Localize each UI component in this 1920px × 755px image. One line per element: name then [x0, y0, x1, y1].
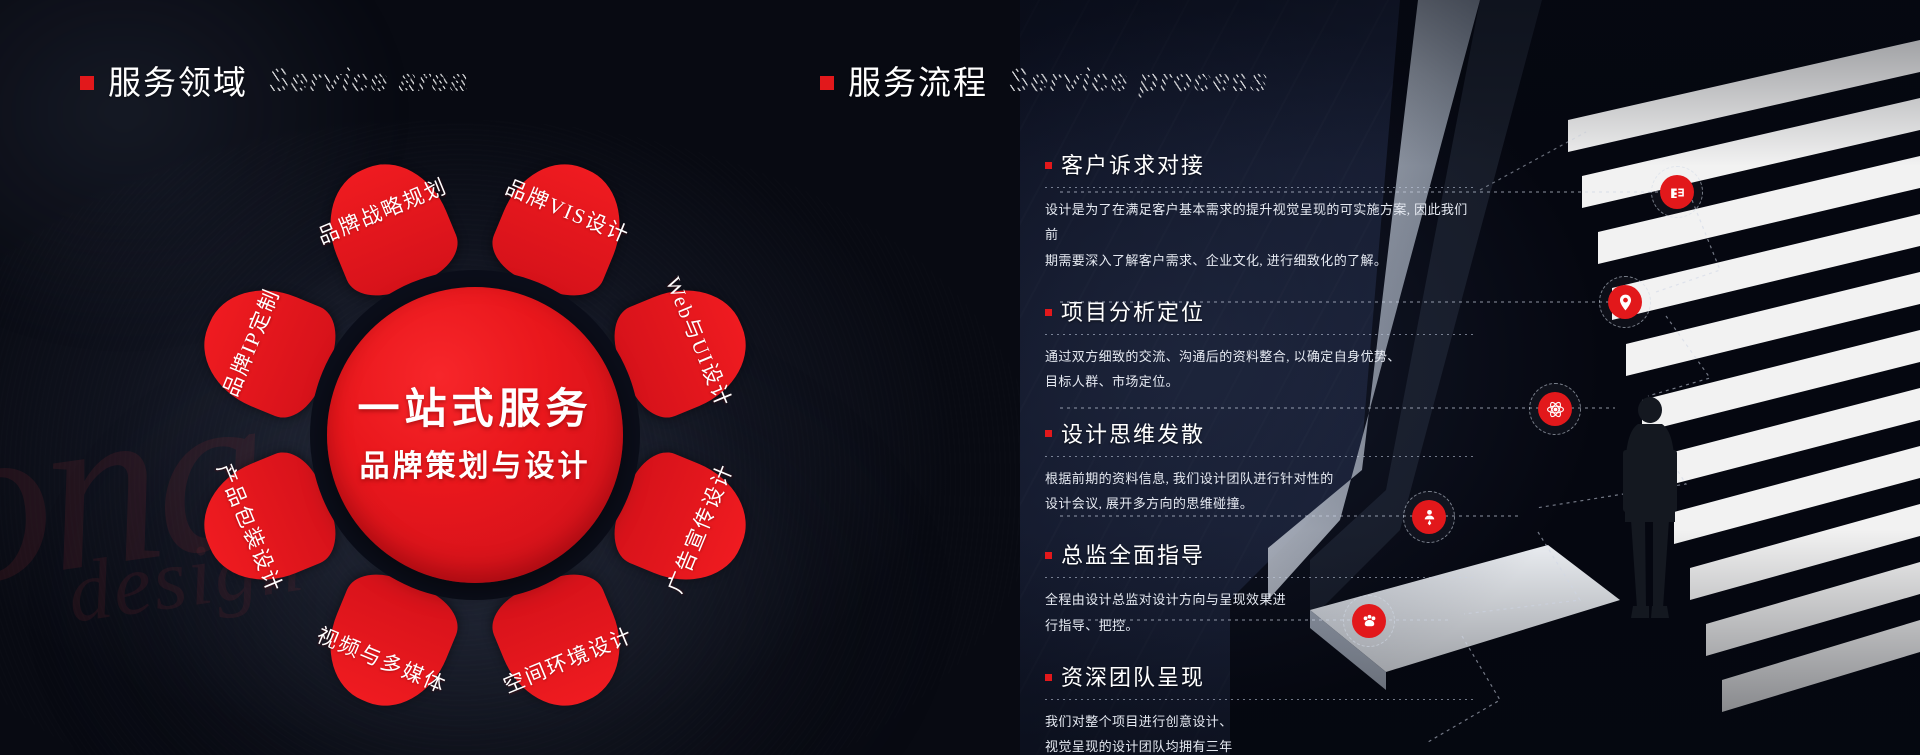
- step-node-1[interactable]: [1660, 175, 1694, 209]
- step-divider: [1045, 699, 1475, 700]
- step-divider: [1045, 187, 1475, 188]
- target-location-icon: [1616, 293, 1635, 312]
- step-node-3[interactable]: [1538, 392, 1572, 426]
- step-header: 客户诉求对接: [1045, 148, 1475, 180]
- step-node-5[interactable]: [1352, 604, 1386, 638]
- step-title: 资深团队呈现: [1061, 660, 1205, 692]
- donut-center-main: 一站式服务: [357, 385, 592, 435]
- step-title: 总监全面指导: [1061, 538, 1205, 570]
- process-step[interactable]: 客户诉求对接 设计是为了在满足客户基本需求的提升视觉呈现的可实施方案, 因此我们…: [1045, 148, 1475, 273]
- process-steps-list: 客户诉求对接 设计是为了在满足客户基本需求的提升视觉呈现的可实施方案, 因此我们…: [1045, 148, 1475, 755]
- process-step[interactable]: 资深团队呈现 我们对整个项目进行创意设计、 视觉呈现的设计团队均拥有三年 以上的…: [1045, 660, 1475, 755]
- step-description-line: 我们对整个项目进行创意设计、: [1045, 709, 1475, 734]
- step-description-line: 通过双方细致的交流、沟通后的资料整合, 以确定自身优势、: [1045, 344, 1475, 369]
- left-title-cn: 服务领域: [108, 56, 248, 104]
- left-title-square-icon: [80, 76, 94, 90]
- step-divider: [1045, 577, 1475, 578]
- step-description-line: 行指导、把控。: [1045, 613, 1475, 638]
- step-bullet-icon: [1045, 552, 1052, 559]
- step-header: 总监全面指导: [1045, 538, 1475, 570]
- step-bullet-icon: [1045, 430, 1052, 437]
- step-bullet-icon: [1045, 162, 1052, 169]
- slide-root: ona design 服务领域 Service area 品牌VIS设计Web与…: [0, 0, 1920, 755]
- step-header: 资深团队呈现: [1045, 660, 1475, 692]
- team-paw-icon: [1360, 612, 1379, 631]
- step-bullet-icon: [1045, 309, 1052, 316]
- step-title: 项目分析定位: [1061, 295, 1205, 327]
- right-title-en: Service process: [1008, 62, 1269, 99]
- step-bullet-icon: [1045, 674, 1052, 681]
- donut-center: 一站式服务 品牌策划与设计: [327, 287, 623, 583]
- step-description-line: 视觉呈现的设计团队均拥有三年: [1045, 734, 1475, 755]
- step-title: 客户诉求对接: [1061, 148, 1205, 180]
- right-title-square-icon: [820, 76, 834, 90]
- step-description-line: 目标人群、市场定位。: [1045, 369, 1475, 394]
- service-area-donut: 品牌VIS设计Web与UI设计广告宣传设计空间环境设计视频与多媒体产品包装设计品…: [170, 130, 780, 740]
- step-divider: [1045, 456, 1475, 457]
- process-step[interactable]: 项目分析定位 通过双方细致的交流、沟通后的资料整合, 以确定自身优势、 目标人群…: [1045, 295, 1475, 395]
- step-description-line: 期需要深入了解客户需求、企业文化, 进行细致化的了解。: [1045, 248, 1475, 273]
- step-description: 我们对整个项目进行创意设计、 视觉呈现的设计团队均拥有三年 以上的设计经验。: [1045, 709, 1475, 755]
- step-description: 通过双方细致的交流、沟通后的资料整合, 以确定自身优势、 目标人群、市场定位。: [1045, 344, 1475, 395]
- step-header: 项目分析定位: [1045, 295, 1475, 327]
- left-section-title: 服务领域 Service area: [80, 56, 469, 104]
- step-divider: [1045, 334, 1475, 335]
- step-title: 设计思维发散: [1061, 417, 1205, 449]
- step-header: 设计思维发散: [1045, 417, 1475, 449]
- left-title-en: Service area: [268, 62, 469, 99]
- person-pen-icon: [1420, 508, 1439, 527]
- step-description: 全程由设计总监对设计方向与呈现效果进 行指导、把控。: [1045, 587, 1475, 638]
- step-description: 设计是为了在满足客户基本需求的提升视觉呈现的可实施方案, 因此我们前 期需要深入…: [1045, 197, 1475, 273]
- handshake-icon: [1668, 183, 1687, 202]
- step-description-line: 根据前期的资料信息, 我们设计团队进行针对性的: [1045, 466, 1475, 491]
- donut-center-sub: 品牌策划与设计: [360, 441, 591, 485]
- step-node-2[interactable]: [1608, 285, 1642, 319]
- right-title-cn: 服务流程: [848, 56, 988, 104]
- right-section-title: 服务流程 Service process: [820, 56, 1269, 104]
- businessman-silhouette: [1615, 390, 1685, 640]
- step-description-line: 全程由设计总监对设计方向与呈现效果进: [1045, 587, 1475, 612]
- step-node-4[interactable]: [1412, 500, 1446, 534]
- atom-icon: [1546, 400, 1565, 419]
- process-step[interactable]: 总监全面指导 全程由设计总监对设计方向与呈现效果进 行指导、把控。: [1045, 538, 1475, 638]
- step-description-line: 设计是为了在满足客户基本需求的提升视觉呈现的可实施方案, 因此我们前: [1045, 197, 1475, 248]
